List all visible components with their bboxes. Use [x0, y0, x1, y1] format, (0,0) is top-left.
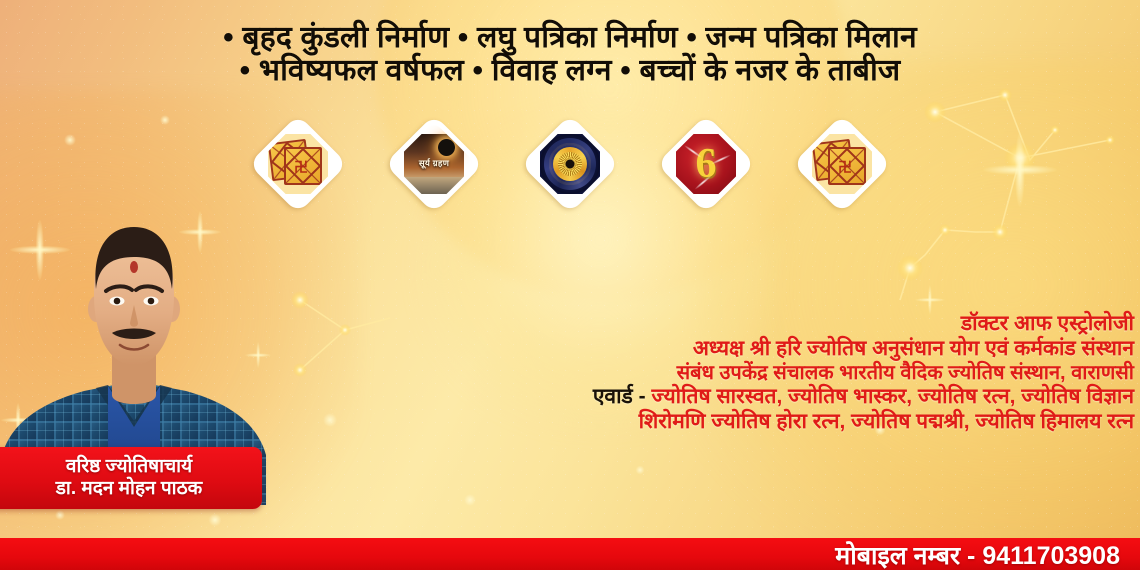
credential-line-2: अध्यक्ष श्री हरि ज्योतिष अनुसंधान योग एव… — [234, 337, 1134, 362]
credential-line-3: संबंध उपकेंद्र संचालक भारतीय वैदिक ज्योत… — [234, 362, 1134, 386]
service-icon-row: 卍 सूर्य ग्रहण — [0, 112, 1140, 216]
diamond-content — [540, 134, 600, 194]
kundali-art: 卍 — [268, 140, 328, 188]
eclipse-art: सूर्य ग्रहण — [404, 134, 464, 194]
number-six-icon[interactable]: 6 — [658, 116, 754, 212]
services-line-1: • बृहद कुंडली निर्माण • लघु पत्रिका निर्… — [223, 22, 917, 54]
diamond-inner: 卍 — [800, 122, 885, 207]
astrologer-title: वरिष्ठ ज्योतिषाचार्य — [66, 457, 192, 478]
diamond-content: 卍 — [812, 134, 872, 194]
credentials-block: डॉक्टर आफ एस्ट्रोलोजी अध्यक्ष श्री हरि ज… — [234, 312, 1134, 435]
diamond-content: 6 — [676, 134, 736, 194]
kundali-art: 卍 — [812, 140, 872, 188]
diamond-inner: 6 — [664, 122, 749, 207]
swastika-icon: 卍 — [294, 160, 308, 174]
services-line-2: • भविष्यफल वर्षफल • विवाह लग्न • बच्चों … — [240, 55, 901, 87]
award-line-1: एवार्ड - ज्योतिष सारस्वत, ज्योतिष भास्कर… — [234, 385, 1134, 410]
six-art: 6 — [676, 134, 736, 194]
diamond-content: 卍 — [268, 134, 328, 194]
kundali-chart-icon[interactable]: 卍 — [250, 116, 346, 212]
zodiac-sun-icon — [558, 152, 582, 176]
award-list-1: ज्योतिष सारस्वत, ज्योतिष भास्कर, ज्योतिष… — [651, 385, 1134, 408]
astrologer-name-banner: वरिष्ठ ज्योतिषाचार्य डा. मदन मोहन पाठक — [0, 447, 262, 509]
diamond-inner: 卍 — [256, 122, 341, 207]
tilak — [130, 261, 138, 273]
solar-eclipse-icon[interactable]: सूर्य ग्रहण — [386, 116, 482, 212]
zodiac-art — [540, 134, 600, 194]
diamond-content: सूर्य ग्रहण — [404, 134, 464, 194]
swastika-icon: 卍 — [838, 160, 852, 174]
diamond-inner — [528, 122, 613, 207]
award-line-2: शिरोमणि ज्योतिष होरा रत्न, ज्योतिष पद्मश… — [234, 410, 1134, 435]
eclipse-moon-icon — [438, 139, 455, 156]
diamond-inner: सूर्य ग्रहण — [392, 122, 477, 207]
services-header: • बृहद कुंडली निर्माण • लघु पत्रिका निर्… — [0, 0, 1140, 108]
award-label: एवार्ड - — [593, 385, 646, 408]
eclipse-label: सूर्य ग्रहण — [404, 158, 464, 169]
poster-root: • बृहद कुंडली निर्माण • लघु पत्रिका निर्… — [0, 0, 1140, 570]
contact-footer-bar: मोबाइल नम्बर - 9411703908 — [0, 538, 1140, 570]
mobile-number-text[interactable]: मोबाइल नम्बर - 9411703908 — [835, 544, 1120, 569]
credential-line-1: डॉक्टर आफ एस्ट्रोलोजी — [234, 312, 1134, 337]
kundali-chart-icon-2[interactable]: 卍 — [794, 116, 890, 212]
zodiac-wheel-icon[interactable] — [522, 116, 618, 212]
astrologer-name: डा. मदन मोहन पाठक — [56, 479, 202, 500]
